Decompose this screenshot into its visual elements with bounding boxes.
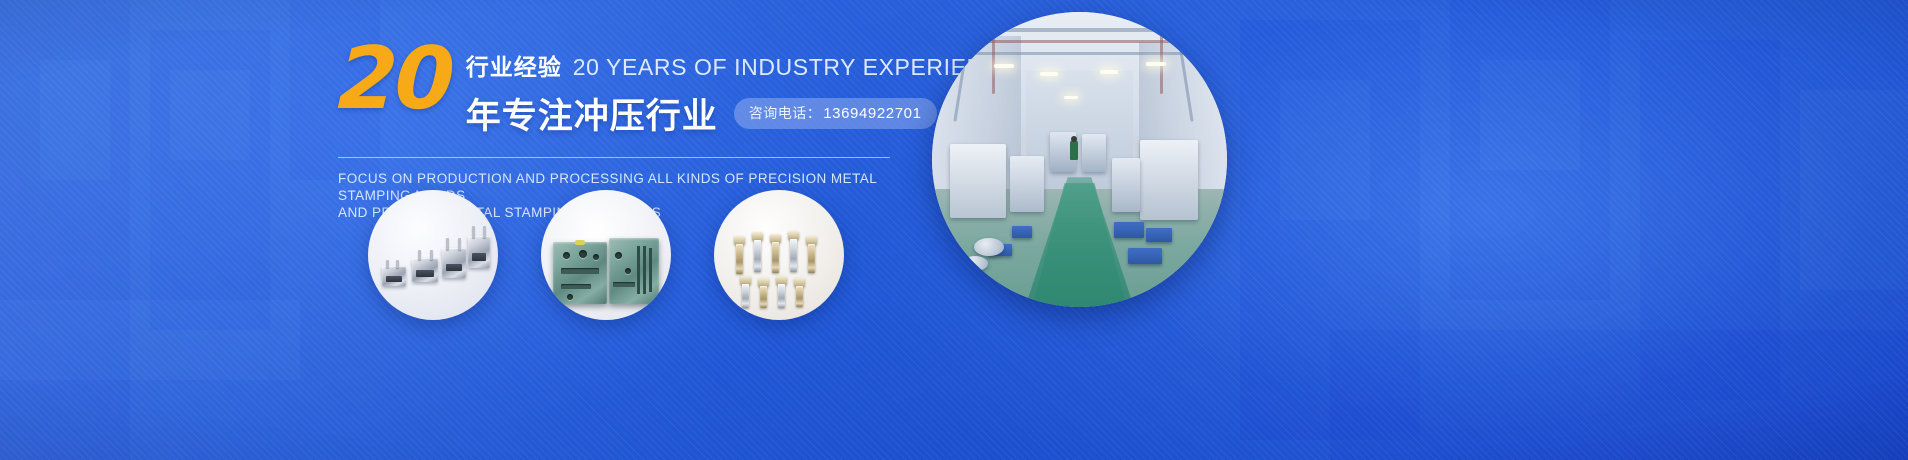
product-image-terminals	[714, 190, 844, 320]
factory-photo	[932, 12, 1227, 307]
product-image-connectors	[368, 190, 498, 320]
headline-cn-large: 年专注冲压行业	[466, 88, 718, 139]
product-image-mold	[541, 190, 671, 320]
headline-cn-small: 行业经验	[466, 48, 562, 82]
promotional-banner: 20 行业经验 20 YEARS OF INDUSTRY EXPERIENCE …	[0, 0, 1908, 460]
divider-rule	[338, 157, 890, 158]
phone-badge-label: 咨询电话：	[749, 103, 822, 123]
phone-badge-number: 13694922701	[823, 105, 921, 122]
years-number: 20	[337, 42, 453, 116]
headline-row: 20 行业经验 20 YEARS OF INDUSTRY EXPERIENCE …	[338, 42, 898, 139]
phone-badge[interactable]: 咨询电话： 13694922701	[734, 98, 937, 129]
